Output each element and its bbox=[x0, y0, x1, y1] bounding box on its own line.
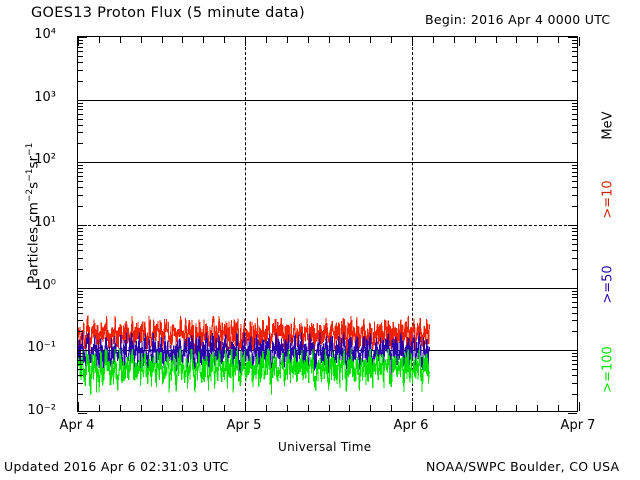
y-axis-tick bbox=[78, 70, 83, 71]
x-axis-tick bbox=[496, 405, 497, 411]
y-axis-tick bbox=[78, 369, 83, 370]
x-axis-tick bbox=[516, 405, 517, 411]
y-axis-tick bbox=[572, 176, 577, 177]
x-axis-tick bbox=[329, 37, 330, 43]
y-axis-tick bbox=[572, 172, 577, 173]
x-tick-label: Apr 4 bbox=[37, 418, 117, 433]
x-axis-tick bbox=[475, 405, 476, 411]
y-axis-tick bbox=[78, 288, 87, 289]
y-axis-tick bbox=[572, 364, 577, 365]
x-axis-tick bbox=[78, 37, 79, 46]
x-axis-tick bbox=[203, 405, 204, 411]
legend-unit-mev: MeV bbox=[601, 91, 616, 161]
y-tick-label: 10² bbox=[34, 152, 56, 167]
x-axis-tick bbox=[224, 405, 225, 411]
y-axis-tick bbox=[572, 356, 577, 357]
x-axis-tick bbox=[266, 37, 267, 43]
y-axis-tick bbox=[568, 162, 577, 163]
page-title: GOES13 Proton Flux (5 minute data) bbox=[31, 5, 305, 21]
y-axis-tick bbox=[568, 37, 577, 38]
x-axis-tick bbox=[182, 37, 183, 43]
y-axis-tick bbox=[572, 125, 577, 126]
x-axis-tick bbox=[475, 37, 476, 43]
y-axis-tick bbox=[78, 331, 83, 332]
plot-clip bbox=[78, 37, 577, 411]
x-axis-tick bbox=[391, 37, 392, 43]
y-axis-tick bbox=[78, 181, 83, 182]
legend-item-ge10: >=10 bbox=[601, 165, 616, 235]
x-axis-tick bbox=[120, 37, 121, 43]
y-axis-tick bbox=[78, 206, 83, 207]
y-axis-tick bbox=[78, 62, 83, 63]
x-axis-tick bbox=[433, 37, 434, 43]
y-axis-tick bbox=[78, 269, 83, 270]
y-axis-tick bbox=[572, 143, 577, 144]
y-tick-label: 10⁴ bbox=[34, 27, 56, 42]
y-axis-tick bbox=[572, 62, 577, 63]
y-axis-tick bbox=[572, 206, 577, 207]
y-axis-tick bbox=[78, 231, 83, 232]
y-axis-tick bbox=[572, 320, 577, 321]
y-axis-tick bbox=[572, 244, 577, 245]
x-axis-tick bbox=[245, 37, 246, 46]
y-axis-label: Particles cm−2s−1sr−1 bbox=[25, 98, 42, 328]
x-axis-tick bbox=[454, 405, 455, 411]
y-axis-tick bbox=[572, 369, 577, 370]
x-tick-label: Apr 7 bbox=[538, 418, 618, 433]
x-axis-tick bbox=[329, 405, 330, 411]
x-axis-tick bbox=[349, 37, 350, 43]
data-series-group bbox=[78, 37, 577, 411]
y-axis-tick bbox=[78, 364, 83, 365]
x-axis-tick bbox=[579, 37, 580, 46]
updated-timestamp: Updated 2016 Apr 6 02:31:03 UTC bbox=[4, 459, 229, 474]
x-axis-tick bbox=[537, 405, 538, 411]
y-axis-tick bbox=[572, 81, 577, 82]
x-axis-tick bbox=[516, 37, 517, 43]
x-axis-tick bbox=[391, 405, 392, 411]
y-axis-tick bbox=[572, 294, 577, 295]
credit-label: NOAA/SWPC Boulder, CO USA bbox=[426, 459, 619, 474]
y-axis-tick bbox=[572, 70, 577, 71]
y-axis-tick bbox=[572, 383, 577, 384]
y-axis-tick bbox=[78, 109, 83, 110]
y-axis-tick bbox=[572, 168, 577, 169]
x-axis-tick bbox=[579, 402, 580, 411]
y-tick-label: 10⁻¹ bbox=[27, 340, 56, 355]
y-axis-tick bbox=[78, 168, 83, 169]
y-axis-tick bbox=[78, 172, 83, 173]
y-axis-tick bbox=[572, 114, 577, 115]
y-axis-tick bbox=[78, 125, 83, 126]
y-axis-tick bbox=[78, 244, 83, 245]
x-axis-tick bbox=[412, 402, 413, 411]
y-tick-label: 10³ bbox=[34, 90, 56, 105]
y-axis-tick bbox=[572, 291, 577, 292]
y-axis-tick bbox=[572, 51, 577, 52]
y-axis-tick bbox=[78, 37, 87, 38]
y-axis-tick bbox=[78, 81, 83, 82]
y-axis-tick bbox=[78, 313, 83, 314]
y-axis-tick bbox=[78, 176, 83, 177]
y-axis-tick bbox=[572, 43, 577, 44]
y-axis-tick bbox=[78, 106, 83, 107]
y-axis-tick bbox=[572, 269, 577, 270]
y-axis-tick bbox=[78, 258, 83, 259]
x-axis-tick bbox=[433, 405, 434, 411]
y-axis-tick bbox=[572, 181, 577, 182]
x-axis-tick bbox=[537, 37, 538, 43]
y-axis-tick bbox=[572, 40, 577, 41]
y-axis-tick bbox=[78, 143, 83, 144]
y-axis-tick bbox=[568, 225, 577, 226]
y-axis-tick bbox=[78, 235, 83, 236]
y-axis-tick bbox=[78, 294, 83, 295]
y-axis-tick bbox=[572, 195, 577, 196]
x-axis-tick bbox=[141, 405, 142, 411]
y-axis-tick bbox=[78, 307, 83, 308]
x-axis-tick bbox=[162, 405, 163, 411]
x-axis-tick bbox=[412, 37, 413, 46]
x-axis-tick bbox=[99, 37, 100, 43]
x-axis-tick bbox=[558, 405, 559, 411]
y-axis-tick bbox=[78, 162, 87, 163]
y-axis-tick bbox=[572, 109, 577, 110]
y-axis-tick bbox=[78, 132, 83, 133]
y-axis-tick bbox=[78, 302, 83, 303]
y-axis-tick bbox=[572, 103, 577, 104]
y-axis-tick bbox=[572, 313, 577, 314]
y-axis-tick bbox=[78, 360, 83, 361]
x-axis-tick bbox=[558, 37, 559, 43]
x-axis-tick bbox=[162, 37, 163, 43]
y-axis-tick bbox=[572, 119, 577, 120]
y-axis-tick bbox=[572, 235, 577, 236]
y-axis-tick bbox=[78, 119, 83, 120]
x-axis-tick bbox=[182, 405, 183, 411]
y-axis-tick bbox=[572, 394, 577, 395]
x-tick-label: Apr 5 bbox=[204, 418, 284, 433]
y-axis-tick bbox=[572, 231, 577, 232]
y-axis-tick bbox=[78, 291, 83, 292]
y-axis-tick bbox=[78, 413, 87, 414]
x-axis-tick bbox=[308, 405, 309, 411]
y-axis-tick bbox=[78, 187, 83, 188]
x-axis-tick bbox=[370, 37, 371, 43]
x-axis-tick bbox=[141, 37, 142, 43]
y-axis-tick bbox=[78, 320, 83, 321]
x-axis-label: Universal Time bbox=[278, 440, 371, 454]
plot-area bbox=[77, 36, 578, 412]
y-axis-tick bbox=[78, 356, 83, 357]
x-axis-tick bbox=[266, 405, 267, 411]
y-axis-tick bbox=[78, 228, 83, 229]
legend-item-ge100: >=100 bbox=[601, 335, 616, 405]
y-axis-tick bbox=[78, 225, 87, 226]
y-axis-tick bbox=[572, 297, 577, 298]
y-axis-tick bbox=[572, 353, 577, 354]
proton-flux-chart: GOES13 Proton Flux (5 minute data) Begin… bbox=[0, 0, 640, 480]
y-axis-tick bbox=[572, 302, 577, 303]
x-axis-tick bbox=[349, 405, 350, 411]
y-axis-tick bbox=[572, 165, 577, 166]
y-axis-tick bbox=[572, 106, 577, 107]
x-axis-tick bbox=[287, 37, 288, 43]
y-axis-tick bbox=[572, 250, 577, 251]
y-axis-tick bbox=[78, 103, 83, 104]
x-tick-label: Apr 6 bbox=[371, 418, 451, 433]
y-axis-tick bbox=[572, 228, 577, 229]
legend-item-ge50: >=50 bbox=[601, 250, 616, 320]
y-axis-tick bbox=[78, 47, 83, 48]
y-axis-tick bbox=[572, 331, 577, 332]
y-axis-tick bbox=[572, 258, 577, 259]
x-axis-tick bbox=[120, 405, 121, 411]
y-axis-tick bbox=[568, 350, 577, 351]
y-axis-tick bbox=[78, 195, 83, 196]
y-axis-tick bbox=[78, 239, 83, 240]
y-axis-tick bbox=[572, 47, 577, 48]
y-axis-tick bbox=[78, 353, 83, 354]
y-tick-label: 10⁰ bbox=[34, 278, 56, 293]
x-axis-tick bbox=[370, 405, 371, 411]
y-axis-tick bbox=[572, 132, 577, 133]
x-axis-tick bbox=[99, 405, 100, 411]
y-axis-tick bbox=[78, 383, 83, 384]
y-axis-tick bbox=[78, 297, 83, 298]
x-axis-tick bbox=[245, 402, 246, 411]
y-axis-tick bbox=[78, 100, 87, 101]
x-axis-tick bbox=[308, 37, 309, 43]
y-axis-tick bbox=[572, 56, 577, 57]
y-tick-label: 10⁻² bbox=[27, 403, 56, 418]
y-axis-tick bbox=[78, 394, 83, 395]
y-axis-tick bbox=[78, 375, 83, 376]
y-axis-tick bbox=[78, 350, 87, 351]
x-axis-tick bbox=[78, 402, 79, 411]
y-axis-tick bbox=[568, 100, 577, 101]
y-axis-tick bbox=[572, 187, 577, 188]
y-axis-tick bbox=[78, 114, 83, 115]
y-axis-tick bbox=[78, 51, 83, 52]
y-axis-tick bbox=[78, 56, 83, 57]
y-tick-label: 10¹ bbox=[34, 215, 56, 230]
y-axis-tick bbox=[572, 239, 577, 240]
x-axis-tick bbox=[454, 37, 455, 43]
y-axis-tick bbox=[572, 360, 577, 361]
y-axis-tick bbox=[568, 413, 577, 414]
begin-time-label: Begin: 2016 Apr 4 0000 UTC bbox=[425, 12, 610, 27]
x-axis-tick bbox=[203, 37, 204, 43]
x-axis-tick bbox=[496, 37, 497, 43]
y-axis-tick bbox=[572, 307, 577, 308]
y-axis-tick bbox=[572, 375, 577, 376]
y-axis-tick bbox=[78, 165, 83, 166]
x-axis-tick bbox=[224, 37, 225, 43]
y-axis-tick bbox=[78, 250, 83, 251]
y-axis-tick bbox=[568, 288, 577, 289]
x-axis-tick bbox=[287, 405, 288, 411]
